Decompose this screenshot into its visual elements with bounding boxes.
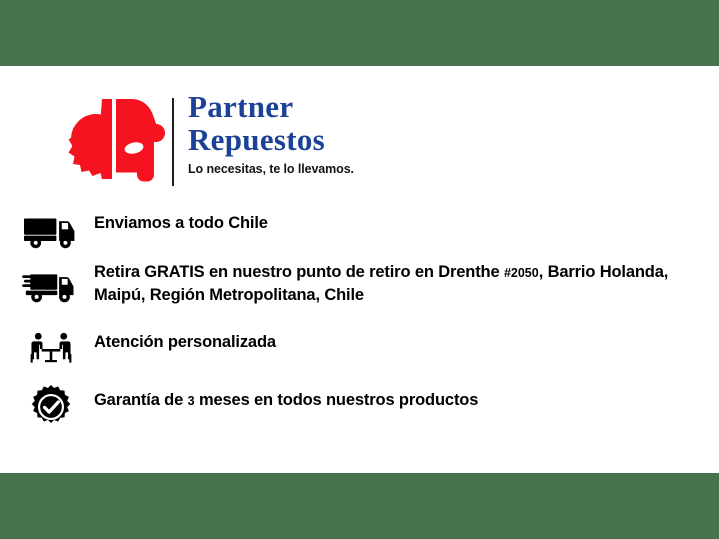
logo-divider	[172, 98, 174, 186]
brand-name-line-1: Partner	[188, 90, 608, 123]
gear-car-icon	[58, 95, 170, 183]
brand-name-line-2: Repuestos	[188, 123, 608, 156]
bottom-green-band	[0, 473, 719, 539]
warranty-text-part1: Garantía de	[94, 391, 188, 409]
fast-delivery-truck-icon	[20, 259, 82, 315]
brand-tagline: Lo necesitas, te lo llevamos.	[188, 162, 608, 176]
brand-text-block: Partner Repuestos Lo necesitas, te lo ll…	[188, 90, 608, 176]
feature-label-warranty: Garantía de 3 meses en todos nuestros pr…	[94, 379, 719, 412]
feature-list: Enviamos a todo Chile	[0, 205, 719, 435]
feature-label-pickup: Retira GRATIS en nuestro punto de retiro…	[94, 259, 719, 306]
pickup-address-number: #2050	[504, 266, 539, 280]
feature-row-shipping: Enviamos a todo Chile	[0, 205, 719, 259]
feature-row-pickup: Retira GRATIS en nuestro punto de retiro…	[0, 259, 719, 321]
feature-row-attention: Atención personalizada	[0, 321, 719, 379]
pickup-text-part1: Retira GRATIS en nuestro punto de retiro…	[94, 263, 504, 281]
delivery-truck-icon	[20, 205, 82, 259]
feature-label-attention: Atención personalizada	[94, 321, 719, 353]
feature-row-warranty: Garantía de 3 meses en todos nuestros pr…	[0, 379, 719, 435]
check-badge-icon	[20, 379, 82, 435]
people-at-table-icon	[20, 321, 82, 377]
top-green-band	[0, 0, 719, 66]
warranty-months-number: 3	[188, 394, 195, 408]
warranty-text-part2: meses en todos nuestros productos	[195, 391, 479, 409]
promo-banner: Partner Repuestos Lo necesitas, te lo ll…	[0, 0, 719, 539]
brand-header: Partner Repuestos Lo necesitas, te lo ll…	[0, 90, 719, 190]
feature-label-shipping: Enviamos a todo Chile	[94, 205, 719, 234]
